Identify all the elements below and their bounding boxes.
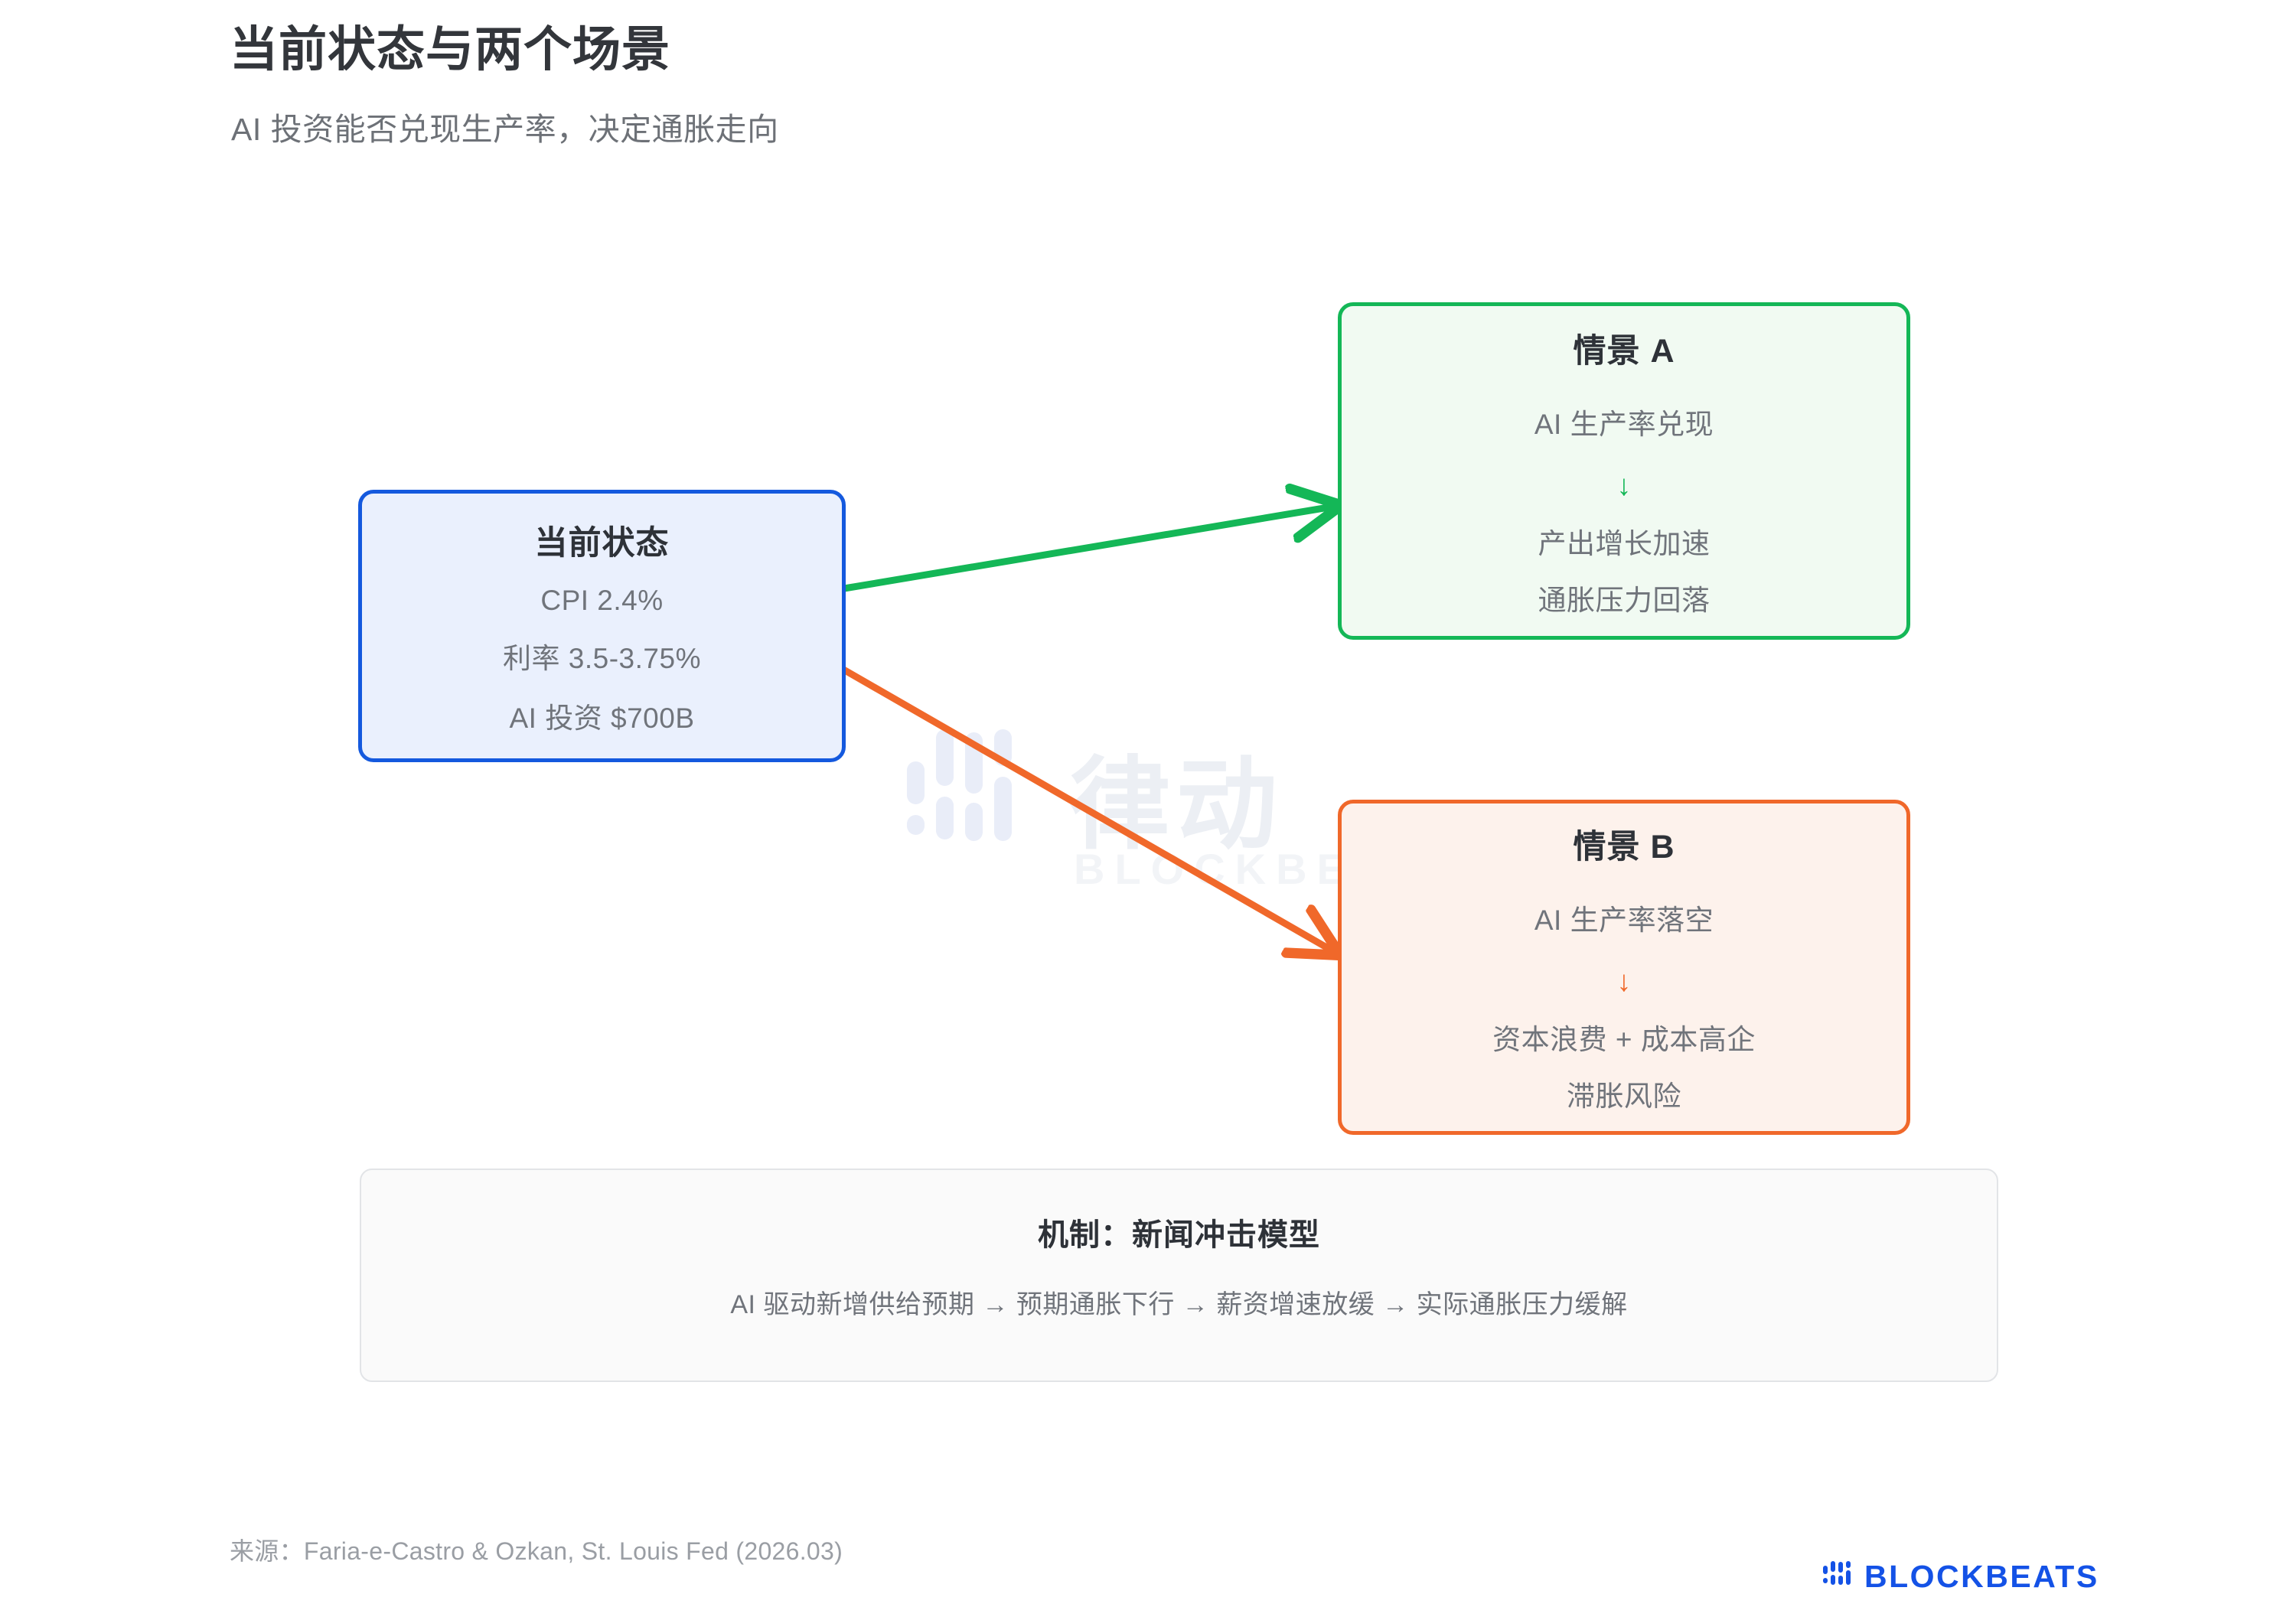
- node-current-state-line-investment: AI 投资 $700B: [509, 695, 694, 736]
- watermark-text-cn: 律动: [1069, 723, 1283, 869]
- page-title: 当前状态与两个场景: [230, 11, 670, 80]
- node-scenario-b[interactable]: 情景 B AI 生产率落空 ↓ 资本浪费 + 成本高企 滞胀风险: [1338, 800, 1910, 1135]
- mechanism-flow-text: AI 驱动新增供给预期 → 预期通胀下行 → 薪资增速放缓 → 实际通胀压力缓解: [730, 1283, 1627, 1321]
- node-scenario-b-effect-1: 资本浪费 + 成本高企: [1492, 1016, 1756, 1058]
- node-scenario-a-effect-1: 产出增长加速: [1538, 520, 1711, 562]
- blockbeats-wordmark: BLOCKBEATS: [1864, 1561, 2099, 1592]
- page-subtitle: AI 投资能否兑现生产率，决定通胀走向: [231, 103, 779, 149]
- slide-canvas: 当前状态与两个场景 AI 投资能否兑现生产率，决定通胀走向 律动 BLOCKBE…: [0, 0, 2296, 1607]
- blockbeats-bars-icon: [1823, 1561, 1858, 1592]
- node-scenario-a-title: 情景 A: [1574, 324, 1675, 372]
- arrow-down-icon: ↓: [1617, 471, 1632, 500]
- mechanism-title: 机制：新闻冲击模型: [1038, 1210, 1320, 1254]
- node-scenario-a[interactable]: 情景 A AI 生产率兑现 ↓ 产出增长加速 通胀压力回落: [1338, 302, 1910, 640]
- node-scenario-a-cause: AI 生产率兑现: [1534, 401, 1714, 442]
- arrow-down-icon: ↓: [1617, 967, 1632, 996]
- watermark-bars-icon: [907, 729, 1060, 882]
- watermark: 律动 BLOCKBEATS: [907, 723, 1397, 911]
- edge-current-to-scenario-a: [840, 507, 1333, 589]
- node-scenario-b-effect-2: 滞胀风险: [1567, 1073, 1681, 1114]
- source-note: 来源：Faria-e-Castro & Ozkan, St. Louis Fed…: [230, 1532, 843, 1567]
- node-current-state-line-rate: 利率 3.5-3.75%: [503, 635, 701, 676]
- mechanism-panel: 机制：新闻冲击模型 AI 驱动新增供给预期 → 预期通胀下行 → 薪资增速放缓 …: [360, 1169, 1998, 1382]
- edge-current-to-scenario-b: [840, 667, 1333, 951]
- node-current-state-title: 当前状态: [535, 517, 670, 564]
- node-scenario-b-cause: AI 生产率落空: [1534, 897, 1714, 938]
- node-scenario-a-effect-2: 通胀压力回落: [1538, 577, 1711, 618]
- node-scenario-b-title: 情景 B: [1574, 820, 1675, 868]
- blockbeats-logo: BLOCKBEATS: [1823, 1560, 2099, 1593]
- node-current-state-line-cpi: CPI 2.4%: [540, 585, 663, 617]
- node-current-state[interactable]: 当前状态 CPI 2.4% 利率 3.5-3.75% AI 投资 $700B: [358, 490, 846, 762]
